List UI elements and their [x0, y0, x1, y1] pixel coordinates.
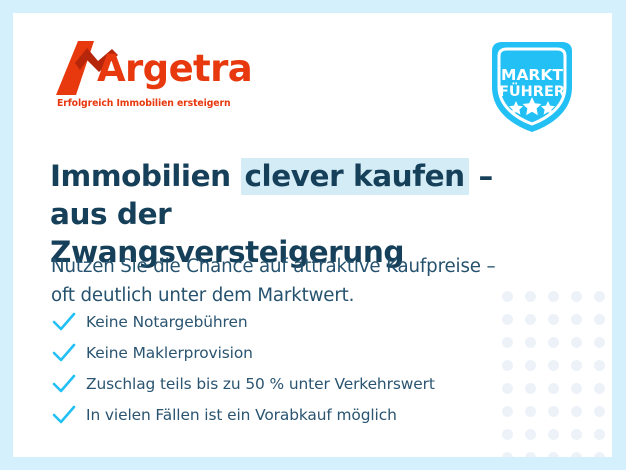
list-item-label: In vielen Fällen ist ein Vorabkauf mögli…: [86, 406, 397, 424]
check-icon: [52, 373, 76, 395]
dot: [571, 406, 582, 417]
headline-line1-after: –: [469, 159, 493, 193]
dot: [571, 452, 582, 457]
dot: [525, 429, 536, 440]
badge-line1: MARKT: [501, 66, 563, 84]
dot: [594, 314, 605, 325]
dot: [571, 360, 582, 371]
list-item-label: Zuschlag teils bis zu 50 % unter Verkehr…: [86, 375, 435, 393]
check-icon: [52, 342, 76, 364]
dot: [502, 337, 513, 348]
dot: [548, 291, 559, 302]
dot: [548, 383, 559, 394]
dot: [525, 360, 536, 371]
list-item-label: Keine Notargebühren: [86, 313, 247, 331]
dot: [548, 452, 559, 457]
argetra-tagline: Erfolgreich Immobilien ersteigern: [57, 98, 230, 109]
dot: [525, 452, 536, 457]
dot: [594, 406, 605, 417]
list-item: Keine Notargebühren: [52, 307, 502, 336]
list-item: Zuschlag teils bis zu 50 % unter Verkehr…: [52, 369, 502, 398]
subheadline: Nutzen Sie die Chance auf attraktive Kau…: [51, 252, 541, 310]
dot-grid-pattern: [502, 291, 612, 457]
list-item-label: Keine Maklerprovision: [86, 344, 253, 362]
dot: [594, 337, 605, 348]
dot: [525, 406, 536, 417]
dot: [571, 314, 582, 325]
dot: [594, 429, 605, 440]
dot: [502, 429, 513, 440]
dot: [502, 360, 513, 371]
dot: [525, 314, 536, 325]
subheadline-line2: oft deutlich unter dem Marktwert.: [51, 281, 541, 310]
dot: [594, 452, 605, 457]
promo-banner: Argetra Erfolgreich Immobilien ersteiger…: [0, 0, 626, 470]
dot: [571, 429, 582, 440]
dot: [571, 383, 582, 394]
headline-line1-before: Immobilien: [50, 159, 241, 193]
dot: [548, 360, 559, 371]
argetra-logo[interactable]: Argetra Erfolgreich Immobilien ersteiger…: [56, 41, 246, 119]
subheadline-line1: Nutzen Sie die Chance auf attraktive Kau…: [51, 252, 541, 281]
dot: [525, 383, 536, 394]
list-item: Keine Maklerprovision: [52, 338, 502, 367]
argetra-wordmark: Argetra: [97, 50, 252, 87]
dot: [594, 360, 605, 371]
dot: [571, 291, 582, 302]
benefits-list: Keine Notargebühren Keine Maklerprovisio…: [52, 307, 502, 431]
dot: [571, 337, 582, 348]
dot: [502, 383, 513, 394]
market-leader-badge: MARKT FÜHRER: [486, 39, 578, 135]
dot: [548, 314, 559, 325]
list-item: In vielen Fällen ist ein Vorabkauf mögli…: [52, 400, 502, 429]
dot: [594, 383, 605, 394]
dot: [525, 337, 536, 348]
dot: [502, 314, 513, 325]
dot: [502, 452, 513, 457]
check-icon: [52, 404, 76, 426]
headline-highlight: clever kaufen: [241, 158, 469, 195]
banner-card: Argetra Erfolgreich Immobilien ersteiger…: [13, 13, 612, 457]
dot: [502, 406, 513, 417]
dot: [594, 291, 605, 302]
check-icon: [52, 311, 76, 333]
dot: [548, 429, 559, 440]
dot: [548, 337, 559, 348]
dot: [548, 406, 559, 417]
